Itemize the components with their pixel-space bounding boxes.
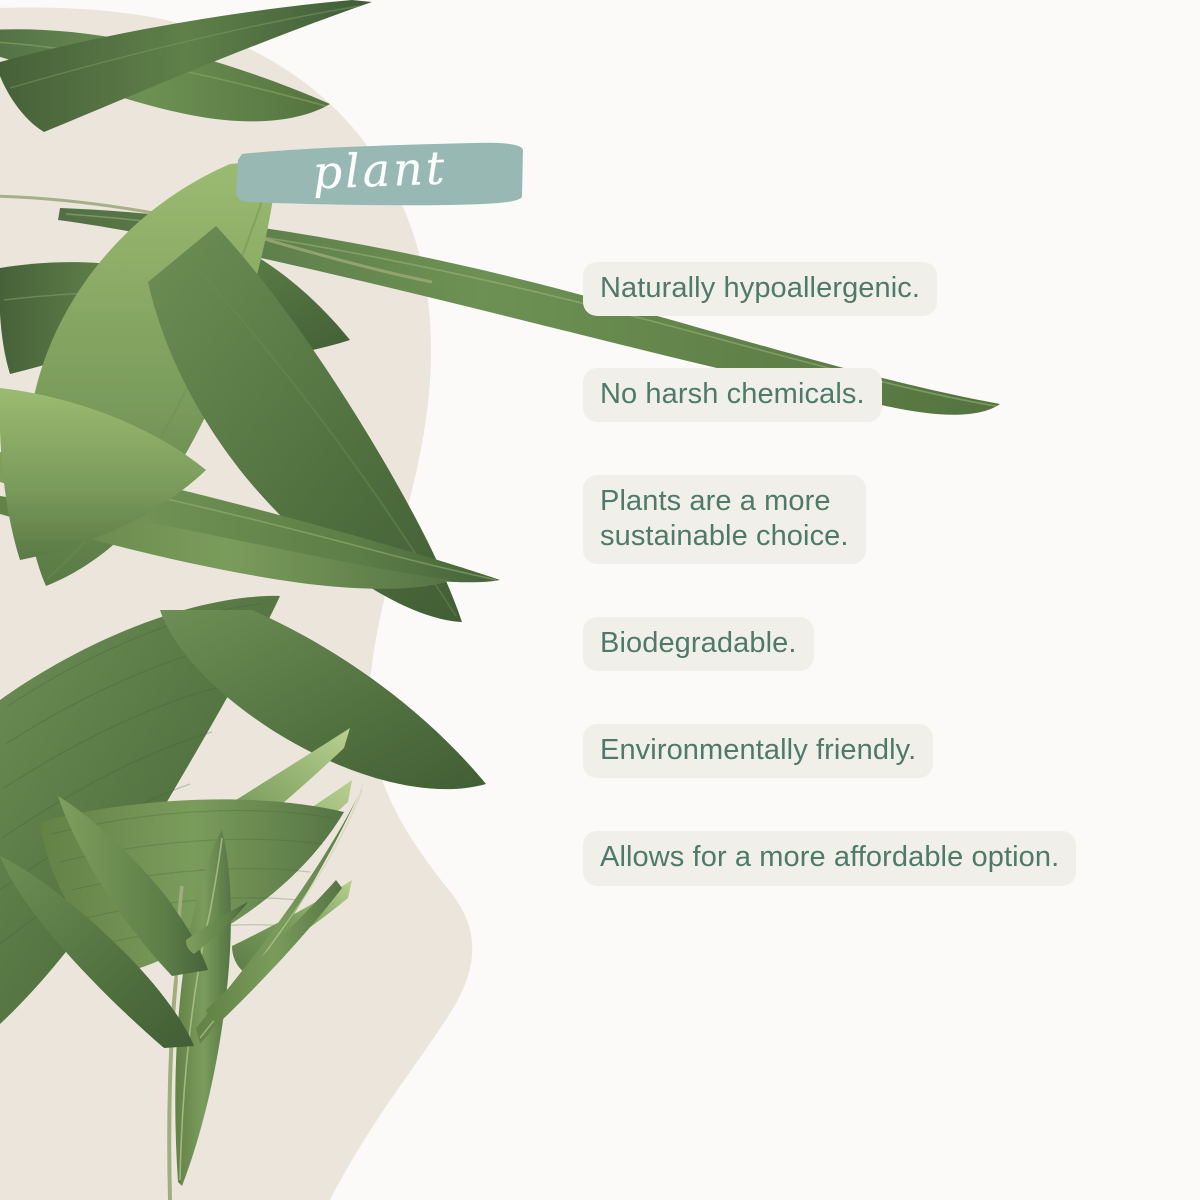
- leaf-group-mid: [0, 160, 500, 622]
- plant-badge-label: plant: [235, 131, 525, 208]
- benefit-pill-1: Naturally hypoallergenic.: [583, 262, 937, 316]
- benefit-pill-5: Environmentally friendly.: [583, 724, 933, 778]
- benefit-pill-2: No harsh chemicals.: [583, 368, 882, 422]
- benefits-list: Naturally hypoallergenic. No harsh chemi…: [583, 262, 1143, 886]
- poster-canvas: plant Naturally hypoallergenic. No harsh…: [0, 0, 1200, 1200]
- benefit-pill-3: Plants are a more sustainable choice.: [583, 475, 866, 563]
- benefit-pill-4: Biodegradable.: [583, 617, 814, 671]
- benefit-pill-6: Allows for a more affordable option.: [583, 831, 1076, 885]
- plant-badge: plant: [236, 140, 524, 206]
